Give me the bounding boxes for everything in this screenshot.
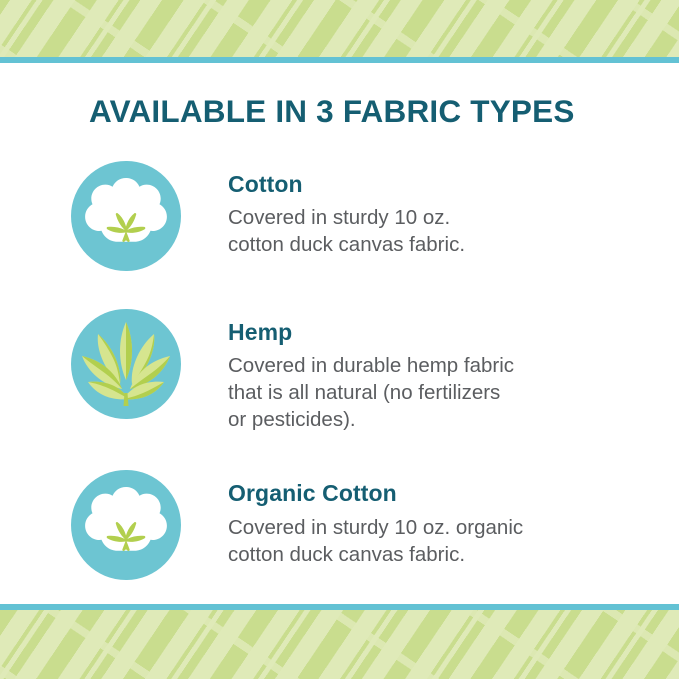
fabric-description-organic-cotton: Covered in sturdy 10 oz. organic cotton … xyxy=(228,514,628,568)
top-band-teal-rule xyxy=(0,57,679,63)
top-band-dash-overlay xyxy=(0,0,679,58)
bottom-band-teal-rule xyxy=(0,604,679,610)
fabric-description-hemp: Covered in durable hemp fabric that is a… xyxy=(228,352,628,433)
fabric-title-cotton: Cotton xyxy=(228,172,679,197)
fabric-row-organic-cotton: Organic Cotton Covered in sturdy 10 oz. … xyxy=(0,469,679,581)
fabric-text-cotton: Cotton Covered in sturdy 10 oz. cotton d… xyxy=(228,160,679,258)
infographic-page: AVAILABLE IN 3 FABRIC TYPES Cotton Cover… xyxy=(0,0,679,679)
top-decorative-band xyxy=(0,0,679,63)
fabric-text-organic-cotton: Organic Cotton Covered in sturdy 10 oz. … xyxy=(228,469,679,567)
cotton-boll-icon xyxy=(70,469,182,581)
fabric-title-organic-cotton: Organic Cotton xyxy=(228,481,679,506)
page-title: AVAILABLE IN 3 FABRIC TYPES xyxy=(89,93,575,130)
fabric-title-hemp: Hemp xyxy=(228,320,679,345)
bottom-band-dash-overlay xyxy=(0,610,679,679)
fabric-row-cotton: Cotton Covered in sturdy 10 oz. cotton d… xyxy=(0,160,679,272)
cotton-boll-icon xyxy=(70,160,182,272)
hemp-leaf-icon xyxy=(70,308,182,420)
fabric-row-hemp: Hemp Covered in durable hemp fabric that… xyxy=(0,308,679,433)
fabric-description-cotton: Covered in sturdy 10 oz. cotton duck can… xyxy=(228,204,628,258)
fabric-type-list: Cotton Covered in sturdy 10 oz. cotton d… xyxy=(0,160,679,617)
bottom-decorative-band xyxy=(0,604,679,679)
fabric-text-hemp: Hemp Covered in durable hemp fabric that… xyxy=(228,308,679,433)
